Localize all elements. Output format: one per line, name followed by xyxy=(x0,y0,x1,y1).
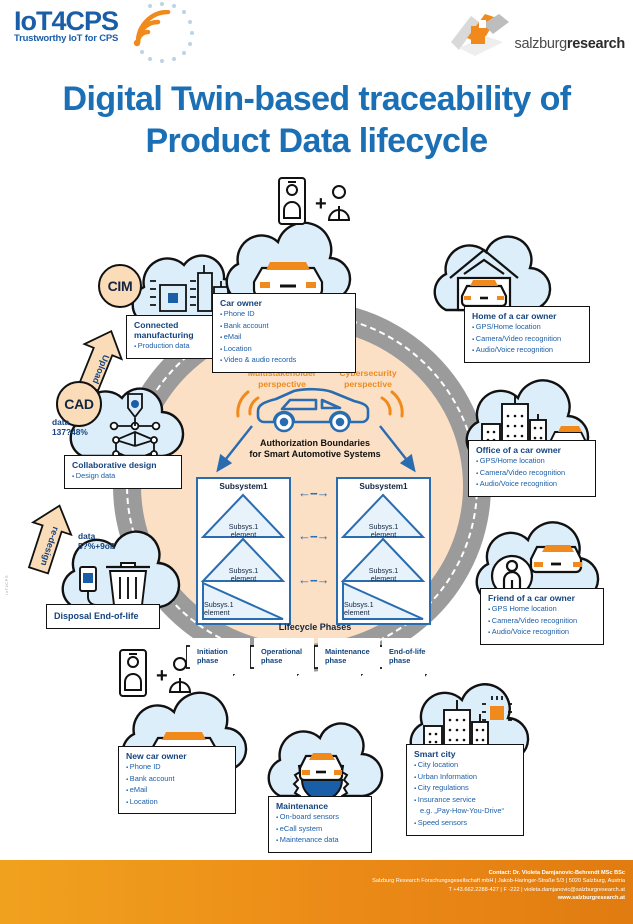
car-owner-box: Car owner Phone ID Bank account eMail Lo… xyxy=(212,293,356,373)
friend-title: Friend of a car owner xyxy=(488,593,597,603)
disposal-data-readout: data 5?%+9oß xyxy=(78,531,115,551)
footer-bar: Contact: Dr. Violeta Damjanovic-Behrendt… xyxy=(0,860,633,924)
collaborative-design-title: Collaborative design xyxy=(72,460,175,470)
car-owner-list: Phone ID Bank account eMail Location Vid… xyxy=(220,309,349,367)
phase-initiation: Initiation phase xyxy=(190,638,250,674)
salzburg-research-cubes-icon xyxy=(445,8,517,62)
authorization-boundaries-title: Authorization Boundaries for Smart Autom… xyxy=(200,438,430,460)
list-item: City regulations xyxy=(414,783,517,795)
cim-badge: CIM xyxy=(98,264,142,308)
phase-maintenance: Maintenance phase xyxy=(318,638,380,674)
maintenance-title: Maintenance xyxy=(276,801,365,811)
list-item-sub: e.g. „Pay-How-You-Drive“ xyxy=(414,806,517,818)
list-item: eMail xyxy=(126,785,229,797)
list-item: Phone ID xyxy=(220,309,349,321)
salzburg-research-logo: salzburgresearch xyxy=(445,8,627,64)
list-item: GPS Home location xyxy=(488,604,597,616)
list-item: Bank account xyxy=(220,321,349,333)
phone-person-plus-person-icon: + xyxy=(116,648,196,700)
footer-contact-block: Contact: Dr. Violeta Damjanovic-Behrendt… xyxy=(372,869,625,903)
smart-city-box: Smart city City location Urban Informati… xyxy=(406,744,524,836)
home-cloud xyxy=(420,230,560,316)
subsystem-connector-2: ←--→ xyxy=(298,528,329,543)
poster-canvas: IoT4CPS Trustworthy IoT for CPS xyxy=(0,0,633,924)
plus-icon: + xyxy=(315,193,327,215)
subsystem-connector-3: ←--→ xyxy=(298,572,329,587)
office-box: Office of a car owner GPS/Home location … xyxy=(468,440,596,497)
subsystem-right-element-1: Subsys.1 element xyxy=(369,522,399,539)
list-item: Camera/Video recognition xyxy=(476,468,589,480)
collaborative-design-list: Design data xyxy=(72,471,175,483)
new-car-owner-list: Phone ID Bank account eMail Location xyxy=(126,762,229,808)
page-title: Digital Twin-based traceability of Produ… xyxy=(0,78,633,162)
office-title: Office of a car owner xyxy=(476,445,589,455)
plus-icon: + xyxy=(156,665,168,687)
disposal-title: Disposal End-of-life xyxy=(54,611,153,621)
subsystem-left-element-3: Subsys.1 element xyxy=(204,600,234,617)
lifecycle-phases-label: Lifecycle Phases xyxy=(200,622,430,632)
subsystem-left-element-2: Subsys.1 element xyxy=(229,566,259,583)
smart-city-list: City location Urban Information City reg… xyxy=(414,760,517,830)
list-item: Camera/Video recognition xyxy=(488,616,597,628)
list-item: Insurance service xyxy=(414,795,517,807)
home-title: Home of a car owner xyxy=(472,311,583,321)
list-item: Video & audio records xyxy=(220,355,349,367)
list-item: Location xyxy=(126,797,229,809)
list-item: Audio/Voice recognition xyxy=(488,627,597,639)
maintenance-cloud xyxy=(254,718,390,802)
list-item: On-board sensors xyxy=(276,812,365,824)
footer-line-address: Salzburg Research Forschungsgesellschaft… xyxy=(372,877,625,885)
friend-box: Friend of a car owner GPS Home location … xyxy=(480,588,604,645)
new-car-owner-title: New car owner xyxy=(126,751,229,761)
cad-data-readout: data 137?48% xyxy=(52,417,88,437)
subsystem-right-element-3: Subsys.1 element xyxy=(344,600,374,617)
phase-operational: Operational phase xyxy=(254,638,314,674)
new-car-owner-box: New car owner Phone ID Bank account eMai… xyxy=(118,746,236,814)
list-item: Bank account xyxy=(126,774,229,786)
list-item: Urban Information xyxy=(414,772,517,784)
list-item: Design data xyxy=(72,471,175,483)
maintenance-box: Maintenance On-board sensors eCall syste… xyxy=(268,796,372,853)
disposal-cloud xyxy=(48,527,188,613)
list-item: eCall system xyxy=(276,824,365,836)
cad-data-value: 137?48% xyxy=(52,427,88,437)
phase-end-of-life: End-of-life phase xyxy=(382,638,438,674)
list-item: Location xyxy=(220,344,349,356)
poster-watermark: IoT4CPS xyxy=(4,575,9,595)
list-item: GPS/Home location xyxy=(476,456,589,468)
office-list: GPS/Home location Camera/Video recogniti… xyxy=(476,456,589,491)
list-item: Audio/Voice recognition xyxy=(476,479,589,491)
subsystem-left-title: Subsystem1 xyxy=(198,482,289,491)
list-item: Audio/Voice recognition xyxy=(472,345,583,357)
disposal-box: Disposal End-of-life xyxy=(46,604,160,629)
subsystem-connector-1: ←--→ xyxy=(298,485,329,500)
srf-word-light: salzburg xyxy=(515,36,567,52)
car-owner-title: Car owner xyxy=(220,298,349,308)
list-item: Camera/Video recognition xyxy=(472,334,583,346)
page-title-line1: Digital Twin-based traceability of xyxy=(0,78,633,120)
disposal-data-label: data xyxy=(78,531,115,541)
page-title-line2: Product Data lifecycle xyxy=(0,120,633,162)
subsystem-right-element-2: Subsys.1 element xyxy=(369,566,399,583)
list-item: City location xyxy=(414,760,517,772)
footer-line-contact: Contact: Dr. Violeta Damjanovic-Behrendt… xyxy=(372,869,625,877)
subsystem-left: Subsystem1 Subsys.1 element Subsys.1 ele… xyxy=(196,477,291,625)
iot4cps-logo-dot-ring xyxy=(138,2,198,64)
subsystem-right: Subsystem1 Subsys.1 element Subsys.1 ele… xyxy=(336,477,431,625)
list-item: eMail xyxy=(220,332,349,344)
list-item: GPS/Home location xyxy=(472,322,583,334)
list-item: Phone ID xyxy=(126,762,229,774)
subsystem-left-element-1: Subsys.1 element xyxy=(229,522,259,539)
subsystem-right-title: Subsystem1 xyxy=(338,482,429,491)
salzburg-research-wordmark: salzburgresearch xyxy=(515,36,626,52)
disposal-data-value: 5?%+9oß xyxy=(78,541,115,551)
home-list: GPS/Home location Camera/Video recogniti… xyxy=(472,322,583,357)
collaborative-design-box: Collaborative design Design data xyxy=(64,455,182,489)
list-item: Speed sensors xyxy=(414,818,517,830)
maintenance-list: On-board sensors eCall system Maintenanc… xyxy=(276,812,365,847)
cad-data-label: data xyxy=(52,417,88,427)
phone-person-plus-person-icon: + xyxy=(275,176,355,228)
list-item: Maintenance data xyxy=(276,835,365,847)
footer-line-website[interactable]: www.salzburgresearch.at xyxy=(372,894,625,902)
smart-city-title: Smart city xyxy=(414,749,517,759)
srf-word-bold: research xyxy=(567,36,625,52)
friend-list: GPS Home location Camera/Video recogniti… xyxy=(488,604,597,639)
home-box: Home of a car owner GPS/Home location Ca… xyxy=(464,306,590,363)
footer-line-phone: T +43.662.2288-427 | F -222 | violeta.da… xyxy=(372,886,625,894)
